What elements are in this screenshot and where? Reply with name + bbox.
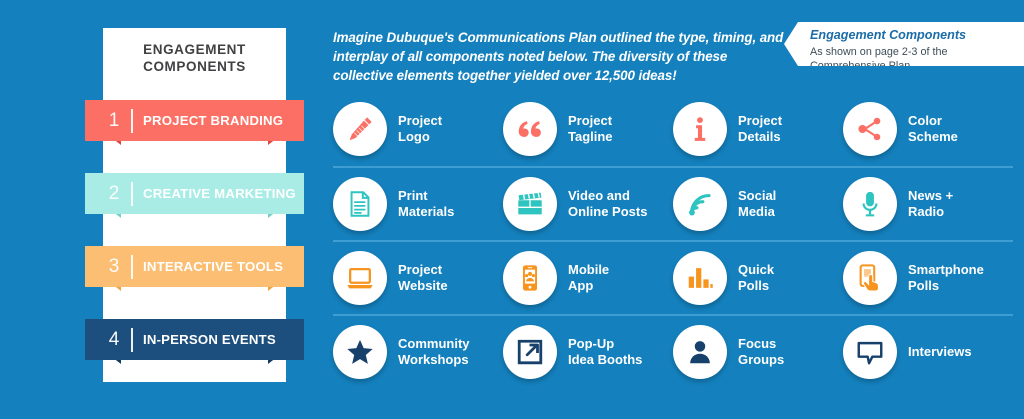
smartphone-icon: [515, 263, 545, 293]
component-item[interactable]: Project Website: [333, 251, 503, 305]
corner-tag: Engagement Components As shown on page 2…: [784, 22, 1024, 66]
component-item[interactable]: Project Details: [673, 102, 843, 156]
component-label: News + Radio: [908, 188, 953, 219]
icon-badge: [843, 251, 897, 305]
icon-badge: [673, 251, 727, 305]
quote-icon: [515, 114, 545, 144]
star-icon: [345, 337, 375, 367]
ribbon-divider: [131, 109, 133, 133]
icon-badge: [333, 251, 387, 305]
icon-badge: [843, 177, 897, 231]
speech-bubble-icon: [855, 337, 885, 367]
component-label: Community Workshops: [398, 336, 470, 367]
grid-row: Project Logo Project Tagline Project Det…: [333, 92, 1013, 166]
ribbon-divider: [131, 255, 133, 279]
ribbon-label: PROJECT BRANDING: [143, 113, 283, 128]
share-icon: [855, 114, 885, 144]
component-label: Quick Polls: [738, 262, 774, 293]
component-label: Print Materials: [398, 188, 454, 219]
component-item[interactable]: Project Tagline: [503, 102, 673, 156]
icon-badge: [503, 102, 557, 156]
component-item[interactable]: Quick Polls: [673, 251, 843, 305]
tap-phone-icon: [855, 263, 885, 293]
component-label: Mobile App: [568, 262, 609, 293]
icon-badge: [503, 251, 557, 305]
icon-badge: [843, 325, 897, 379]
icon-badge: [673, 102, 727, 156]
ribbon-number: 3: [99, 256, 129, 278]
icon-badge: [333, 325, 387, 379]
icon-badge: [333, 102, 387, 156]
component-label: Project Tagline: [568, 113, 613, 144]
icon-badge: [673, 325, 727, 379]
component-label: Project Logo: [398, 113, 442, 144]
component-item[interactable]: Focus Groups: [673, 325, 843, 379]
ribbon-4[interactable]: 4 IN-PERSON EVENTS: [85, 319, 304, 360]
ribbon-slot: 2 CREATIVE MARKETING: [103, 163, 286, 236]
ribbon-label: CREATIVE MARKETING: [143, 186, 296, 201]
external-link-icon: [515, 337, 545, 367]
icon-badge: [503, 325, 557, 379]
ribbon-slot: 1 PROJECT BRANDING: [103, 90, 286, 163]
bar-chart-icon: [685, 263, 715, 293]
engagement-components-panel: ENGAGEMENT COMPONENTS 1 PROJECT BRANDING…: [103, 28, 286, 382]
component-item[interactable]: Smartphone Polls: [843, 251, 1013, 305]
ribbon-slot: 3 INTERACTIVE TOOLS: [103, 236, 286, 309]
components-grid: Project Logo Project Tagline Project Det…: [333, 92, 1013, 388]
component-label: Pop-Up Idea Booths: [568, 336, 642, 367]
component-label: Social Media: [738, 188, 776, 219]
ribbon-number: 4: [99, 329, 129, 351]
document-icon: [345, 189, 375, 219]
component-item[interactable]: Community Workshops: [333, 325, 503, 379]
component-label: Interviews: [908, 344, 972, 360]
info-icon: [685, 114, 715, 144]
clapperboard-icon: [515, 189, 545, 219]
ribbon-list: 1 PROJECT BRANDING 2 CREATIVE MARKETING …: [103, 90, 286, 382]
ribbon-number: 1: [99, 110, 129, 132]
pencil-icon: [345, 114, 375, 144]
ribbon-label: INTERACTIVE TOOLS: [143, 259, 283, 274]
panel-header-title: ENGAGEMENT COMPONENTS: [103, 42, 286, 76]
component-item[interactable]: Social Media: [673, 177, 843, 231]
corner-tag-subtitle: As shown on page 2-3 of the Comprehensiv…: [810, 45, 1016, 73]
ribbon-3[interactable]: 3 INTERACTIVE TOOLS: [85, 246, 304, 287]
ribbon-divider: [131, 182, 133, 206]
component-item[interactable]: Mobile App: [503, 251, 673, 305]
component-label: Project Details: [738, 113, 782, 144]
component-item[interactable]: Pop-Up Idea Booths: [503, 325, 673, 379]
icon-badge: [333, 177, 387, 231]
ribbon-1[interactable]: 1 PROJECT BRANDING: [85, 100, 304, 141]
intro-paragraph: Imagine Dubuque's Communications Plan ou…: [333, 28, 785, 85]
ribbon-label: IN-PERSON EVENTS: [143, 332, 276, 347]
rss-icon: [685, 189, 715, 219]
microphone-icon: [855, 189, 885, 219]
grid-row: Project Website Mobile App Quick Polls: [333, 240, 1013, 314]
component-item[interactable]: News + Radio: [843, 177, 1013, 231]
icon-badge: [503, 177, 557, 231]
ribbon-slot: 4 IN-PERSON EVENTS: [103, 309, 286, 382]
component-label: Color Scheme: [908, 113, 958, 144]
grid-row: Print Materials Video and Online Posts S…: [333, 166, 1013, 240]
icon-badge: [843, 102, 897, 156]
corner-tag-title: Engagement Components: [810, 28, 1016, 44]
component-item[interactable]: Print Materials: [333, 177, 503, 231]
person-icon: [685, 337, 715, 367]
component-item[interactable]: Interviews: [843, 325, 1013, 379]
component-label: Video and Online Posts: [568, 188, 647, 219]
infographic-canvas: ENGAGEMENT COMPONENTS 1 PROJECT BRANDING…: [0, 0, 1024, 419]
icon-badge: [673, 177, 727, 231]
component-item[interactable]: Video and Online Posts: [503, 177, 673, 231]
ribbon-number: 2: [99, 183, 129, 205]
ribbon-2[interactable]: 2 CREATIVE MARKETING: [85, 173, 304, 214]
laptop-icon: [345, 263, 375, 293]
component-label: Focus Groups: [738, 336, 784, 367]
component-label: Project Website: [398, 262, 448, 293]
component-label: Smartphone Polls: [908, 262, 984, 293]
component-item[interactable]: Project Logo: [333, 102, 503, 156]
component-item[interactable]: Color Scheme: [843, 102, 1013, 156]
grid-row: Community Workshops Pop-Up Idea Booths F…: [333, 314, 1013, 388]
ribbon-divider: [131, 328, 133, 352]
panel-header-card: ENGAGEMENT COMPONENTS: [103, 28, 286, 90]
